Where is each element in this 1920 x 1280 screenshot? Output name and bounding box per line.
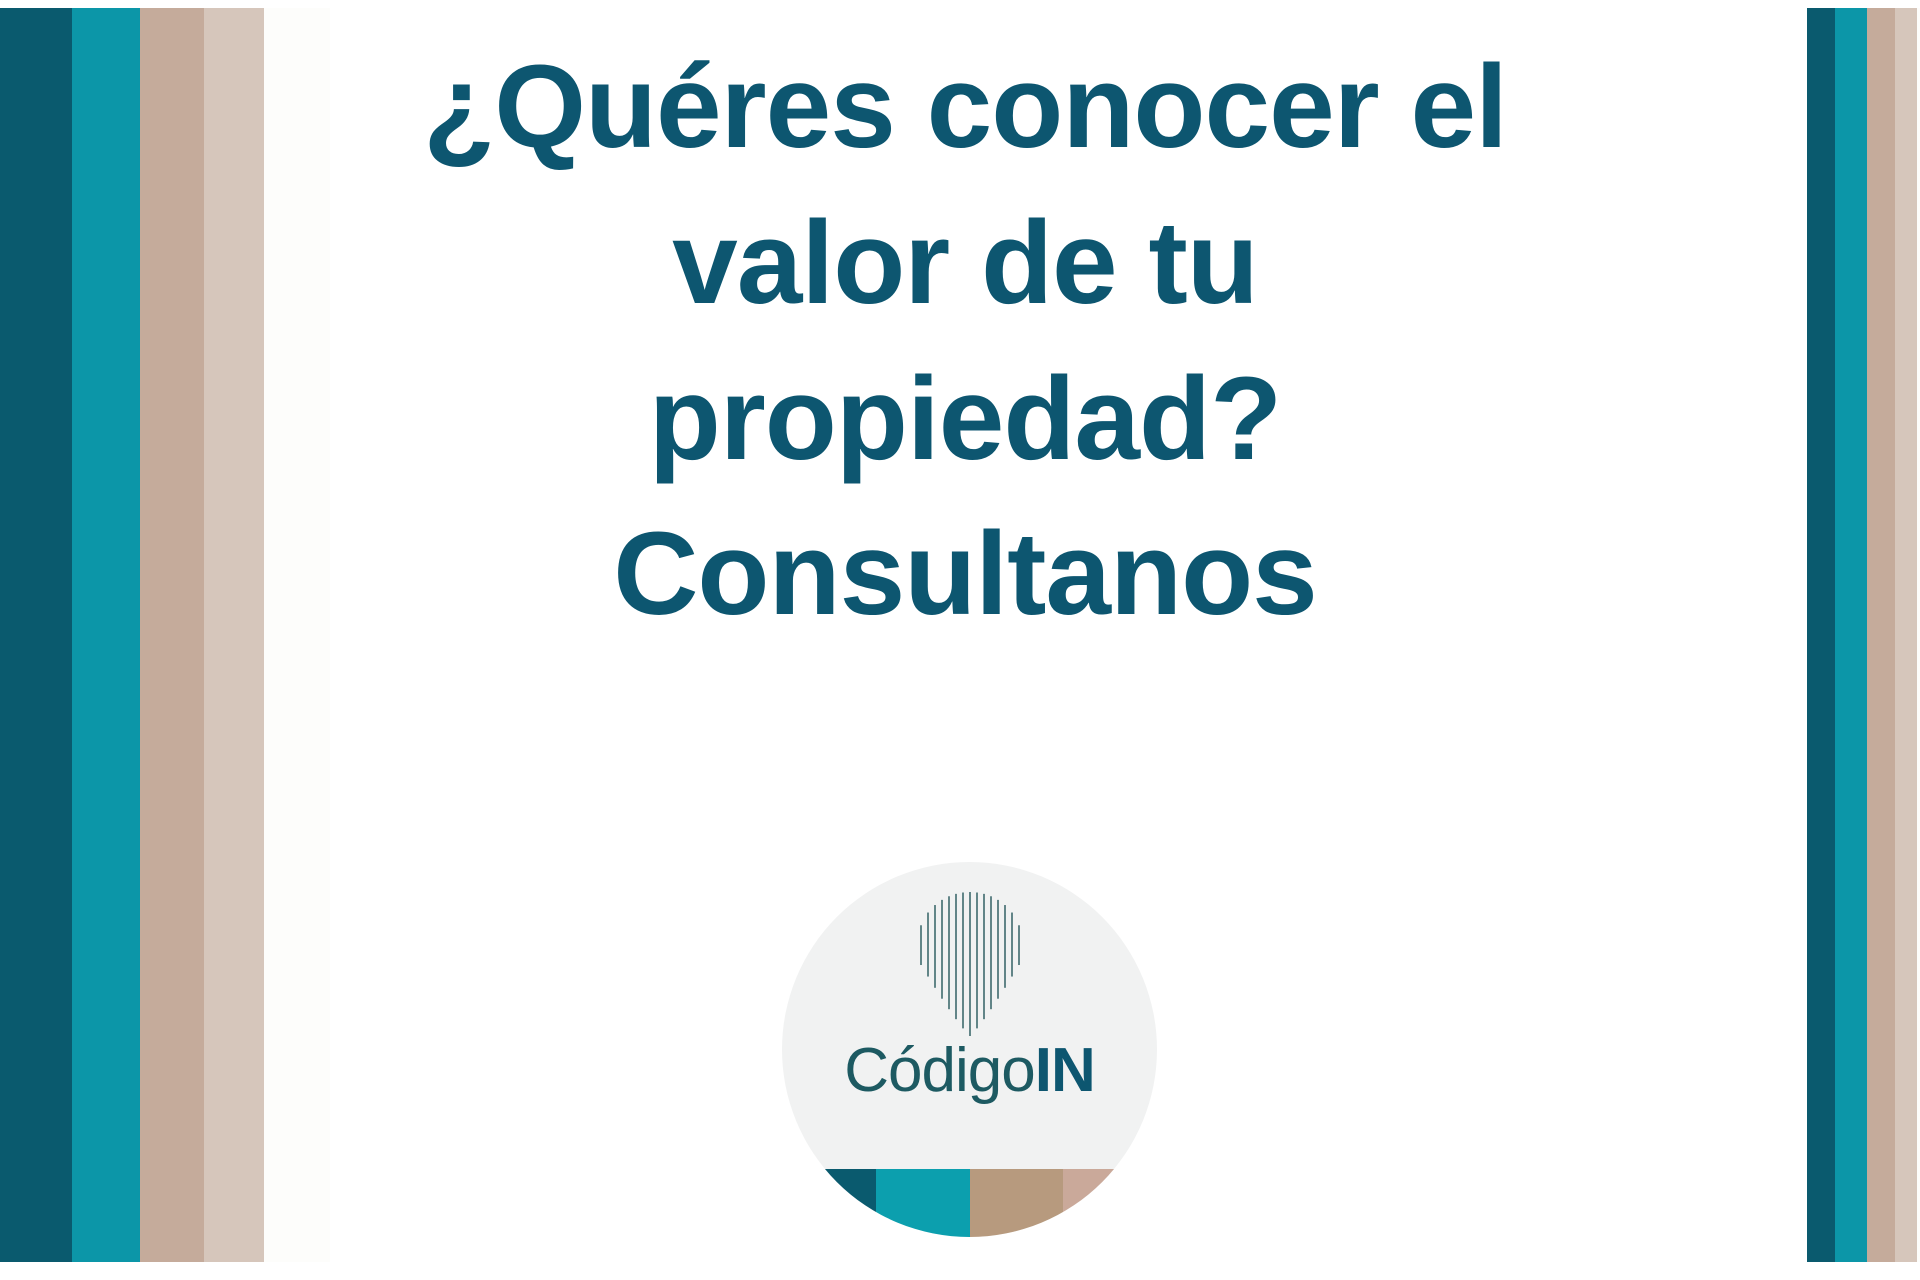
logo-wordmark-light: Código [844, 1036, 1034, 1105]
stripe-light-tan [1895, 8, 1917, 1262]
fingerprint-pin-icon [905, 884, 1035, 1039]
headline-line-2: valor de tu [255, 186, 1675, 342]
headline-line-3: propiedad? [255, 342, 1675, 498]
headline-line-1: ¿Quéres conocer el [255, 30, 1675, 186]
logo-wordmark-bold: IN [1035, 1036, 1095, 1105]
stripe-bright-teal [1835, 8, 1867, 1262]
logo-wordmark: CódigoIN [782, 1040, 1157, 1102]
logo-footer-tan [970, 1169, 1064, 1237]
logo-color-footer [782, 1169, 1157, 1237]
slide-canvas: ¿Quéres conocer el valor de tu propiedad… [0, 0, 1920, 1280]
stripe-tan [140, 8, 204, 1262]
right-stripe-band [1807, 8, 1920, 1262]
stripe-dark-teal [0, 8, 72, 1262]
logo-footer-bright-teal [876, 1169, 970, 1237]
headline-line-4: Consultanos [255, 497, 1675, 653]
stripe-bright-teal [72, 8, 140, 1262]
stripe-tan [1867, 8, 1895, 1262]
logo-footer-dark-teal [782, 1169, 876, 1237]
logo-footer-light-tan [1063, 1169, 1157, 1237]
page-title: ¿Quéres conocer el valor de tu propiedad… [255, 30, 1675, 653]
stripe-dark-teal [1807, 8, 1835, 1262]
logo: CódigoIN [782, 862, 1157, 1237]
